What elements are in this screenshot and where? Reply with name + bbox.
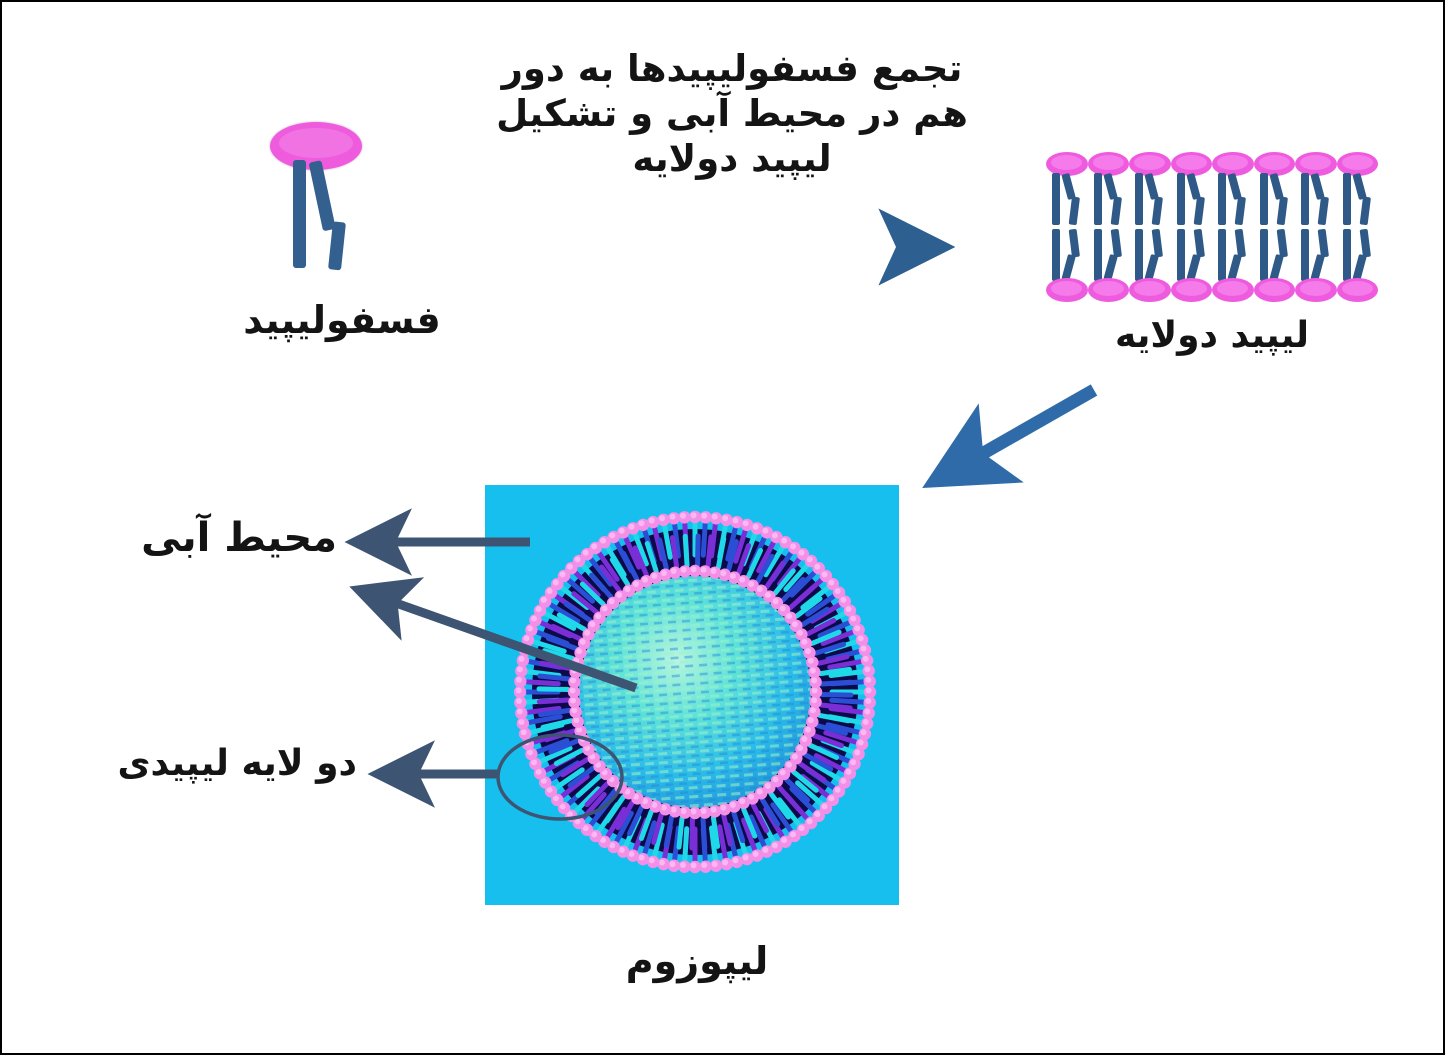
liposome-inner-tail-icon bbox=[679, 818, 682, 847]
liposome-inner-head-icon-highlight bbox=[570, 677, 576, 683]
liposome-outer-head-icon-highlight bbox=[762, 847, 768, 853]
liposome-outer-head-icon-highlight bbox=[649, 518, 655, 524]
diagram-title: تجمع فسفولیپیدها به دور هم در محیط آبی و… bbox=[472, 46, 992, 181]
liposome-inner-head-icon-highlight bbox=[609, 598, 615, 604]
liposome-inner-head-icon-highlight bbox=[661, 570, 667, 576]
bilayer-head-icon bbox=[1254, 278, 1296, 302]
liposome-outer-head-icon-highlight bbox=[781, 837, 787, 843]
bilayer-head-icon bbox=[1129, 278, 1171, 302]
liposome-inner-head-icon-highlight bbox=[573, 658, 579, 664]
liposome-outer-head-icon-highlight bbox=[858, 739, 864, 745]
bilayer-lower-tails bbox=[1046, 229, 1378, 281]
bilayer-lipid-tails bbox=[1129, 229, 1171, 281]
liposome-outer-head-icon-highlight bbox=[807, 556, 813, 562]
label-phospholipid: فسفولیپید bbox=[207, 297, 477, 343]
bilayer-tail-straight-icon bbox=[1260, 173, 1268, 225]
liposome-inner-head-icon-highlight bbox=[671, 807, 677, 813]
liposome-outer-head-icon-highlight bbox=[619, 528, 625, 534]
liposome-inner-head-icon-highlight bbox=[786, 613, 792, 619]
liposome-outer-head-icon-highlight bbox=[762, 528, 768, 534]
liposome-inner-head-icon-highlight bbox=[765, 592, 771, 598]
liposome-inner-head-icon-highlight bbox=[651, 573, 657, 579]
bilayer-tail-kink-lower-icon bbox=[1110, 229, 1121, 258]
bilayer-upper-tails bbox=[1046, 173, 1378, 225]
bilayer-tail-straight-icon bbox=[1052, 173, 1060, 225]
liposome-outer-head-icon-highlight bbox=[722, 515, 728, 521]
liposome-outer-head-icon-highlight bbox=[567, 564, 573, 570]
bilayer-lipid-tails bbox=[1337, 173, 1379, 225]
bilayer-tail-straight-icon bbox=[1052, 229, 1060, 281]
liposome-inner-head-icon-highlight bbox=[616, 592, 622, 598]
bilayer-tail-kink-lower-icon bbox=[1276, 229, 1287, 258]
liposome-inner-head-icon-highlight bbox=[681, 567, 687, 573]
liposome-outer-head-icon-highlight bbox=[790, 831, 796, 837]
liposome-outer-head-icon-highlight bbox=[536, 606, 542, 612]
bilayer-tail-kink-lower-icon bbox=[1318, 197, 1329, 226]
liposome-outer-head-icon-highlight bbox=[531, 616, 537, 622]
liposome-outer-head-icon-highlight bbox=[541, 597, 547, 603]
bilayer-tail-kink-lower-icon bbox=[1235, 229, 1246, 258]
liposome-inner-tail-icon bbox=[822, 695, 851, 696]
liposome-outer-head-icon-highlight bbox=[691, 512, 697, 518]
bilayer-lipid-tails bbox=[1254, 173, 1296, 225]
liposome-outer-head-icon-highlight bbox=[518, 656, 524, 662]
liposome-outer-head-icon-highlight bbox=[854, 749, 860, 755]
liposome-inner-head-icon-highlight bbox=[580, 639, 586, 645]
liposome-outer-head-icon-highlight bbox=[846, 606, 852, 612]
liposome-inner-head-icon-highlight bbox=[797, 630, 803, 636]
liposome-inner-head-icon-highlight bbox=[810, 668, 816, 674]
liposome-inner-head-icon-highlight bbox=[757, 586, 763, 592]
liposome-inner-head-icon-highlight bbox=[811, 697, 817, 703]
liposome-outer-head-icon-highlight bbox=[691, 862, 697, 868]
liposome-inner-head-icon-highlight bbox=[595, 613, 601, 619]
bilayer-tail-straight-icon bbox=[1094, 173, 1102, 225]
liposome-outer-head-icon-highlight bbox=[670, 514, 676, 520]
liposome-inner-head-icon-highlight bbox=[720, 570, 726, 576]
liposome-outer-head-icon-highlight bbox=[743, 520, 749, 526]
liposome-inner-head-icon-highlight bbox=[570, 687, 576, 693]
liposome-outer-head-icon-highlight bbox=[772, 532, 778, 538]
bilayer-bottom-heads bbox=[1046, 278, 1378, 302]
liposome-inner-head-icon-highlight bbox=[765, 783, 771, 789]
liposome-inner-head-icon-highlight bbox=[805, 648, 811, 654]
liposome-outer-head-icon-highlight bbox=[864, 709, 870, 715]
bilayer-tail-kink-lower-icon bbox=[1359, 229, 1370, 258]
liposome-inner-head-icon-highlight bbox=[691, 808, 697, 814]
label-lipid-bilayer-left: دو لایه لیپیدی bbox=[47, 742, 357, 786]
liposome-panel bbox=[485, 485, 899, 905]
liposome-inner-head-icon-highlight bbox=[571, 668, 577, 674]
liposome-inner-head-icon-highlight bbox=[589, 621, 595, 627]
liposome-outer-head-icon-highlight bbox=[858, 635, 864, 641]
bilayer-tail-straight-icon bbox=[1343, 173, 1351, 225]
liposome-outer-head-icon-highlight bbox=[835, 787, 841, 793]
bilayer-lipid-tails bbox=[1088, 229, 1130, 281]
liposome-outer-head-icon-highlight bbox=[807, 818, 813, 824]
liposome-outer-tail-icon bbox=[832, 700, 863, 702]
liposome-inner-head-icon-highlight bbox=[730, 573, 736, 579]
bilayer-lipid-tails bbox=[1129, 173, 1171, 225]
liposome-outer-head-icon-highlight bbox=[814, 564, 820, 570]
liposome-inner-head-icon-highlight bbox=[681, 808, 687, 814]
liposome-outer-head-icon-highlight bbox=[861, 729, 867, 735]
liposome-inner-head-icon-highlight bbox=[570, 697, 576, 703]
liposome-outer-head-icon-highlight bbox=[547, 588, 553, 594]
aqueous-core-texture bbox=[579, 576, 811, 808]
liposome-outer-head-icon-highlight bbox=[822, 571, 828, 577]
bilayer-head-icon bbox=[1171, 278, 1213, 302]
liposome-inner-head-icon-highlight bbox=[576, 648, 582, 654]
liposome-outer-tail-icon bbox=[703, 524, 705, 555]
liposome-inner-tail-icon bbox=[539, 700, 568, 702]
bilayer-lipid-tails bbox=[1046, 173, 1088, 225]
bilayer-lipid-tails bbox=[1088, 173, 1130, 225]
liposome-inner-head-icon-highlight bbox=[642, 577, 648, 583]
liposome-outer-head-icon-highlight bbox=[517, 666, 523, 672]
liposome-inner-tail-icon bbox=[822, 682, 851, 684]
liposome-outer-head-icon-highlight bbox=[846, 769, 852, 775]
liposome-inner-head-icon-highlight bbox=[624, 586, 630, 592]
phospholipid-tail-straight-icon bbox=[293, 160, 306, 268]
bilayer-tail-straight-icon bbox=[1260, 229, 1268, 281]
liposome-inner-head-icon-highlight bbox=[711, 807, 717, 813]
liposome-inner-head-icon-highlight bbox=[786, 762, 792, 768]
liposome-inner-head-icon-highlight bbox=[701, 808, 707, 814]
liposome-inner-tail-icon bbox=[539, 689, 568, 690]
bilayer-tail-kink-lower-icon bbox=[1359, 197, 1370, 226]
label-aqueous-environment: محیط آبی bbox=[87, 514, 337, 563]
liposome-inner-head-icon-highlight bbox=[808, 717, 814, 723]
bilayer-tail-kink-lower-icon bbox=[1318, 229, 1329, 258]
bilayer-lipid-tails bbox=[1171, 229, 1213, 281]
bilayer-tail-straight-icon bbox=[1135, 229, 1143, 281]
liposome-inner-head-icon-highlight bbox=[691, 566, 697, 572]
liposome-outer-head-icon-highlight bbox=[527, 749, 533, 755]
bilayer-tail-straight-icon bbox=[1218, 173, 1226, 225]
liposome-outer-head-icon-highlight bbox=[854, 625, 860, 631]
liposome-inner-head-icon-highlight bbox=[808, 658, 814, 664]
liposome-inner-head-icon-highlight bbox=[584, 630, 590, 636]
liposome-inner-tail-icon bbox=[821, 705, 850, 708]
liposome-outer-head-icon-highlight bbox=[629, 851, 635, 857]
liposome-outer-head-icon-highlight bbox=[790, 543, 796, 549]
bilayer-head-icon bbox=[1212, 278, 1254, 302]
liposome-outer-head-icon-highlight bbox=[575, 556, 581, 562]
liposome-outer-head-icon-highlight bbox=[722, 860, 728, 866]
bilayer-lipid-tails bbox=[1254, 229, 1296, 281]
liposome-outer-head-icon-highlight bbox=[609, 532, 615, 538]
bilayer-tail-straight-icon bbox=[1301, 173, 1309, 225]
liposome-outer-head-icon-highlight bbox=[591, 543, 597, 549]
label-lipid-bilayer-top: لیپید دولایه bbox=[1062, 314, 1362, 358]
liposome-outer-head-icon-highlight bbox=[850, 759, 856, 765]
liposome-inner-head-icon-highlight bbox=[602, 605, 608, 611]
liposome-inner-head-icon-highlight bbox=[757, 789, 763, 795]
liposome-inner-head-icon-highlight bbox=[805, 727, 811, 733]
liposome-outer-head-icon-highlight bbox=[828, 579, 834, 585]
liposome-outer-head-icon-highlight bbox=[680, 513, 686, 519]
bilayer-tail-kink-lower-icon bbox=[1152, 197, 1163, 226]
phospholipid-molecule bbox=[260, 122, 380, 282]
liposome-outer-head-icon-highlight bbox=[799, 550, 805, 556]
bilayer-tail-straight-icon bbox=[1135, 173, 1143, 225]
liposome-outer-head-icon-highlight bbox=[516, 698, 522, 704]
liposome-inner-head-icon-highlight bbox=[711, 568, 717, 574]
liposome-outer-head-icon-highlight bbox=[753, 851, 759, 857]
bilayer-tail-kink-lower-icon bbox=[1110, 197, 1121, 226]
liposome-inner-head-icon-highlight bbox=[739, 577, 745, 583]
liposome-outer-head-icon-highlight bbox=[822, 803, 828, 809]
liposome-outer-head-icon-highlight bbox=[639, 520, 645, 526]
liposome-inner-head-icon-highlight bbox=[801, 736, 807, 742]
lipid-bilayer-figure bbox=[1046, 152, 1378, 302]
bilayer-lipid-tails bbox=[1171, 173, 1213, 225]
liposome-inner-tail-icon bbox=[703, 819, 705, 848]
liposome-outer-head-icon-highlight bbox=[670, 861, 676, 867]
bilayer-lipid-tails bbox=[1337, 229, 1379, 281]
phospholipid-tail-kinked-upper-icon bbox=[309, 160, 336, 231]
bilayer-tail-kink-lower-icon bbox=[1276, 197, 1287, 226]
bilayer-lipid-tails bbox=[1212, 173, 1254, 225]
liposome-inner-head-icon-highlight bbox=[773, 598, 779, 604]
bilayer-lipid-tails bbox=[1212, 229, 1254, 281]
liposome-outer-head-icon-highlight bbox=[659, 860, 665, 866]
liposome-outer-head-icon-highlight bbox=[733, 518, 739, 524]
bilayer-lipid-tails bbox=[1295, 229, 1337, 281]
bilayer-lipid-tails bbox=[1295, 173, 1337, 225]
liposome-outer-head-icon-highlight bbox=[799, 825, 805, 831]
liposome-vesicle-graphic bbox=[485, 485, 899, 905]
liposome-outer-head-icon-highlight bbox=[524, 635, 530, 641]
bilayer-tail-kink-lower-icon bbox=[1069, 197, 1080, 226]
liposome-inner-head-icon-highlight bbox=[739, 798, 745, 804]
liposome-outer-head-icon-highlight bbox=[814, 811, 820, 817]
liposome-outer-head-icon-highlight bbox=[649, 857, 655, 863]
liposome-outer-head-icon-highlight bbox=[527, 625, 533, 631]
liposome-outer-head-icon-highlight bbox=[701, 862, 707, 868]
bilayer-head-icon bbox=[1295, 278, 1337, 302]
liposome-outer-head-icon-highlight bbox=[600, 538, 606, 544]
bilayer-tail-straight-icon bbox=[1301, 229, 1309, 281]
bilayer-tail-straight-icon bbox=[1218, 229, 1226, 281]
bilayer-tail-kink-lower-icon bbox=[1235, 197, 1246, 226]
liposome-outer-head-icon-highlight bbox=[753, 524, 759, 530]
liposome-outer-head-icon-highlight bbox=[521, 646, 527, 652]
bilayer-tail-straight-icon bbox=[1177, 229, 1185, 281]
liposome-inner-head-icon-highlight bbox=[780, 769, 786, 775]
label-liposome: لیپوزوم bbox=[572, 938, 822, 984]
liposome-inner-tail-icon bbox=[540, 676, 569, 679]
liposome-inner-tail-icon bbox=[708, 537, 711, 566]
liposome-outer-head-icon-highlight bbox=[516, 687, 522, 693]
liposome-outer-head-icon-highlight bbox=[518, 719, 524, 725]
bilayer-tail-kink-lower-icon bbox=[1193, 229, 1204, 258]
liposome-outer-tail-icon bbox=[685, 829, 687, 860]
liposome-outer-head-icon-highlight bbox=[828, 795, 834, 801]
liposome-inner-head-icon-highlight bbox=[748, 581, 754, 587]
liposome-outer-head-icon-highlight bbox=[583, 550, 589, 556]
liposome-outer-head-icon-highlight bbox=[864, 666, 870, 672]
liposome-inner-head-icon-highlight bbox=[810, 707, 816, 713]
liposome-inner-head-icon-highlight bbox=[633, 581, 639, 587]
liposome-inner-head-icon-highlight bbox=[748, 794, 754, 800]
liposome-outer-head-icon-highlight bbox=[865, 698, 871, 704]
liposome-inner-head-icon-highlight bbox=[792, 621, 798, 627]
liposome-outer-head-icon-highlight bbox=[701, 513, 707, 519]
bilayer-head-icon bbox=[1088, 278, 1130, 302]
bilayer-head-icon bbox=[1046, 278, 1088, 302]
liposome-outer-head-icon-highlight bbox=[712, 514, 718, 520]
liposome-outer-head-icon-highlight bbox=[840, 597, 846, 603]
diagram-canvas: تجمع فسفولیپیدها به دور هم در محیط آبی و… bbox=[0, 0, 1445, 1055]
liposome-outer-head-icon-highlight bbox=[772, 842, 778, 848]
liposome-inner-head-icon-highlight bbox=[720, 805, 726, 811]
liposome-inner-head-icon-highlight bbox=[780, 605, 786, 611]
liposome-outer-tail-icon bbox=[527, 682, 558, 684]
liposome-outer-head-icon-highlight bbox=[680, 862, 686, 868]
liposome-inner-head-icon-highlight bbox=[730, 802, 736, 808]
liposome-outer-head-icon-highlight bbox=[629, 524, 635, 530]
liposome-outer-head-icon-highlight bbox=[850, 616, 856, 622]
liposome-outer-head-icon-highlight bbox=[516, 677, 522, 683]
liposome-outer-head-icon-highlight bbox=[863, 719, 869, 725]
bilayer-tail-straight-icon bbox=[1343, 229, 1351, 281]
liposome-outer-head-icon-highlight bbox=[865, 677, 871, 683]
bilayer-tail-straight-icon bbox=[1177, 173, 1185, 225]
liposome-inner-tail-icon bbox=[698, 536, 699, 565]
liposome-inner-head-icon-highlight bbox=[792, 754, 798, 760]
liposome-outer-head-icon-highlight bbox=[840, 778, 846, 784]
liposome-inner-head-icon-highlight bbox=[671, 568, 677, 574]
liposome-inner-head-icon-highlight bbox=[571, 707, 577, 713]
liposome-inner-tail-icon bbox=[692, 819, 693, 848]
liposome-inner-head-icon-highlight bbox=[812, 687, 818, 693]
liposome-outer-head-icon-highlight bbox=[524, 739, 530, 745]
liposome-outer-head-icon-highlight bbox=[863, 656, 869, 662]
liposome-outer-head-icon-highlight bbox=[553, 579, 559, 585]
liposome-outer-head-icon-highlight bbox=[866, 687, 872, 693]
liposome-outer-head-icon-highlight bbox=[560, 571, 566, 577]
bilayer-tail-kink-lower-icon bbox=[1152, 229, 1163, 258]
liposome-outer-head-icon-highlight bbox=[733, 857, 739, 863]
liposome-inner-head-icon-highlight bbox=[797, 745, 803, 751]
liposome-outer-head-icon-highlight bbox=[743, 855, 749, 861]
liposome-outer-head-icon-highlight bbox=[781, 538, 787, 544]
liposome-outer-head-icon-highlight bbox=[835, 588, 841, 594]
liposome-outer-head-icon-highlight bbox=[639, 855, 645, 861]
arrow-bilayer-to-liposome bbox=[938, 390, 1094, 479]
liposome-outer-head-icon-highlight bbox=[517, 709, 523, 715]
bilayer-tail-kink-lower-icon bbox=[1193, 197, 1204, 226]
liposome-inner-head-icon-highlight bbox=[773, 776, 779, 782]
liposome-outer-head-icon-highlight bbox=[712, 861, 718, 867]
liposome-inner-head-icon-highlight bbox=[701, 567, 707, 573]
bilayer-head-icon bbox=[1337, 278, 1379, 302]
liposome-inner-head-icon-highlight bbox=[811, 677, 817, 683]
liposome-outer-head-icon-highlight bbox=[861, 646, 867, 652]
bilayer-lipid-tails bbox=[1046, 229, 1088, 281]
liposome-inner-tail-icon bbox=[685, 536, 687, 565]
bilayer-tail-straight-icon bbox=[1094, 229, 1102, 281]
liposome-outer-head-icon-highlight bbox=[521, 729, 527, 735]
liposome-inner-head-icon-highlight bbox=[801, 639, 807, 645]
bilayer-tail-kink-lower-icon bbox=[1069, 229, 1080, 258]
liposome-outer-head-icon-highlight bbox=[659, 515, 665, 521]
